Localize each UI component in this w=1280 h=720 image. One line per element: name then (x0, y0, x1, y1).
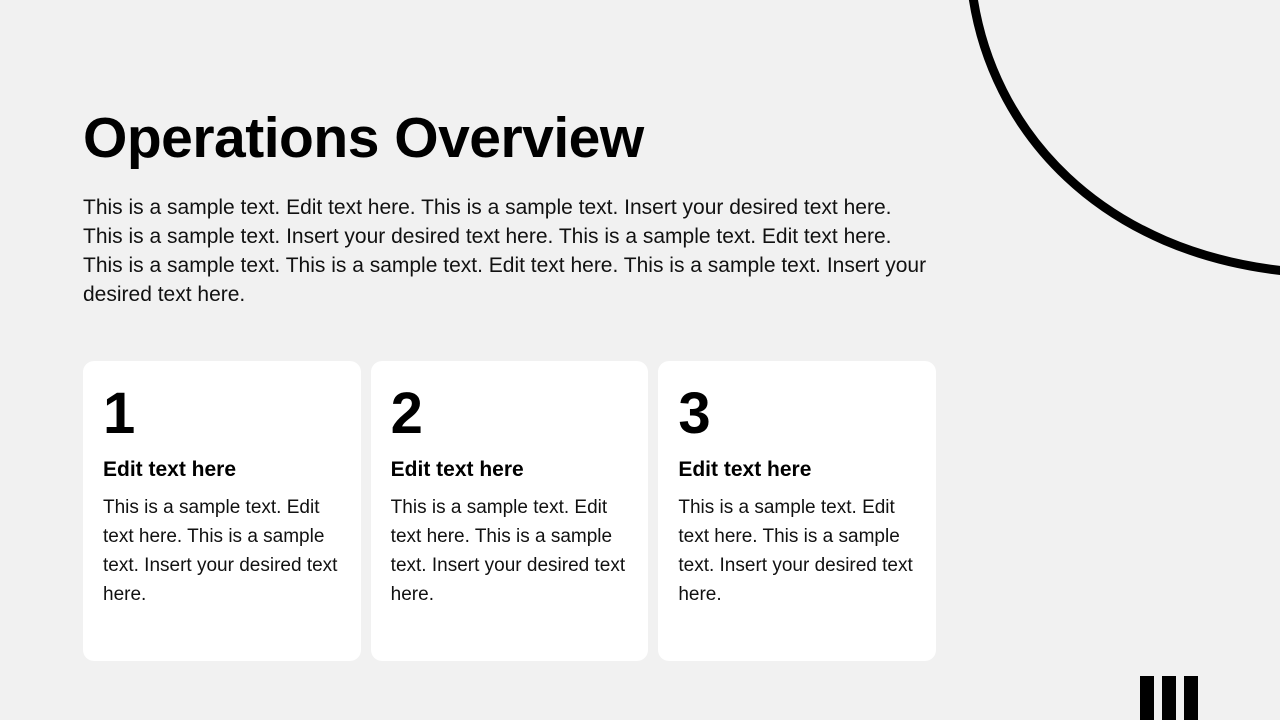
bar-3 (1184, 676, 1198, 720)
card-heading: Edit text here (391, 457, 629, 483)
intro-paragraph: This is a sample text. Edit text here. T… (83, 193, 935, 309)
bar-1 (1140, 676, 1154, 720)
page-title: Operations Overview (83, 104, 644, 172)
three-bars-icon (1140, 676, 1198, 720)
card-number: 3 (678, 385, 916, 457)
card-body: This is a sample text. Edit text here. T… (103, 493, 341, 609)
card-3[interactable]: 3 Edit text here This is a sample text. … (658, 361, 936, 661)
card-number: 2 (391, 385, 629, 457)
card-2[interactable]: 2 Edit text here This is a sample text. … (371, 361, 649, 661)
card-heading: Edit text here (103, 457, 341, 483)
slide-canvas: Operations Overview This is a sample tex… (0, 0, 1280, 720)
card-1[interactable]: 1 Edit text here This is a sample text. … (83, 361, 361, 661)
quarter-circle-arc-icon (950, 0, 1280, 290)
card-body: This is a sample text. Edit text here. T… (678, 493, 916, 609)
card-body: This is a sample text. Edit text here. T… (391, 493, 629, 609)
bar-2 (1162, 676, 1176, 720)
card-group: 1 Edit text here This is a sample text. … (83, 361, 936, 661)
card-heading: Edit text here (678, 457, 916, 483)
card-number: 1 (103, 385, 341, 457)
